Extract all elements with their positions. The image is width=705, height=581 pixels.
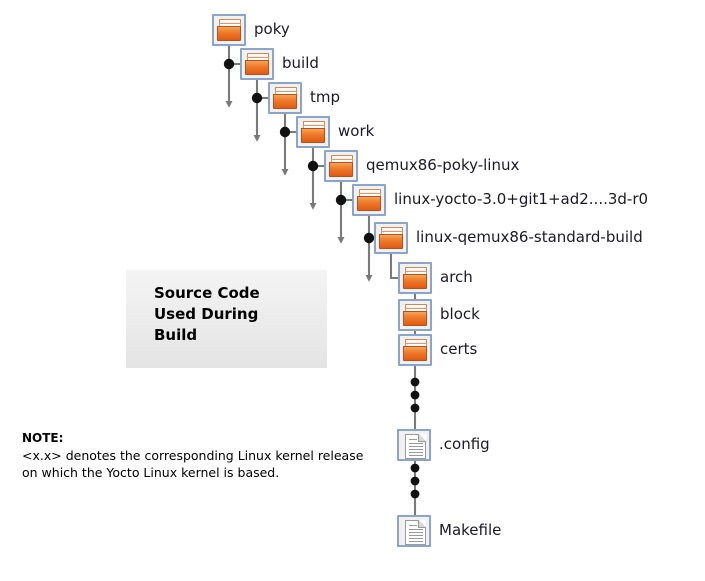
- folder-icon: [374, 222, 408, 254]
- note-title: NOTE:: [22, 430, 382, 446]
- tree-node-label: linux-yocto-3.0+git1+ad2....3d-r0: [394, 190, 648, 209]
- note-block: NOTE: <x.x> denotes the corresponding Li…: [22, 430, 382, 481]
- tree-node-label: certs: [440, 340, 477, 359]
- folder-icon: [240, 48, 274, 80]
- folder-icon: [268, 82, 302, 114]
- folder-icon: [212, 14, 246, 46]
- folder-icon: [324, 150, 358, 182]
- note-text: <x.x> denotes the corresponding Linux ke…: [22, 447, 382, 481]
- tree-node-label: Makefile: [439, 521, 501, 540]
- file-icon: [397, 429, 431, 461]
- tree-node-label: qemux86-poky-linux: [366, 156, 519, 175]
- tree-node-label: build: [282, 54, 319, 73]
- folder-icon: [398, 262, 432, 294]
- directory-tree-diagram: Source Code Used During Build poky build…: [0, 0, 705, 581]
- tree-node-label: linux-qemux86-standard-build: [416, 228, 643, 247]
- source-code-callout-text: Source Code Used During Build: [154, 283, 260, 346]
- folder-icon: [398, 299, 432, 331]
- file-icon: [397, 515, 431, 547]
- folder-icon: [352, 184, 386, 216]
- tree-node-label: block: [440, 305, 480, 324]
- tree-node-label: arch: [440, 268, 473, 287]
- tree-node-label: tmp: [310, 88, 340, 107]
- connector-lines: [0, 0, 705, 581]
- source-code-callout-box: Source Code Used During Build: [126, 270, 327, 368]
- folder-icon: [398, 334, 432, 366]
- tree-node-label: work: [338, 122, 374, 141]
- tree-node-label: poky: [254, 20, 290, 39]
- tree-node-label: .config: [439, 435, 490, 454]
- folder-icon: [296, 116, 330, 148]
